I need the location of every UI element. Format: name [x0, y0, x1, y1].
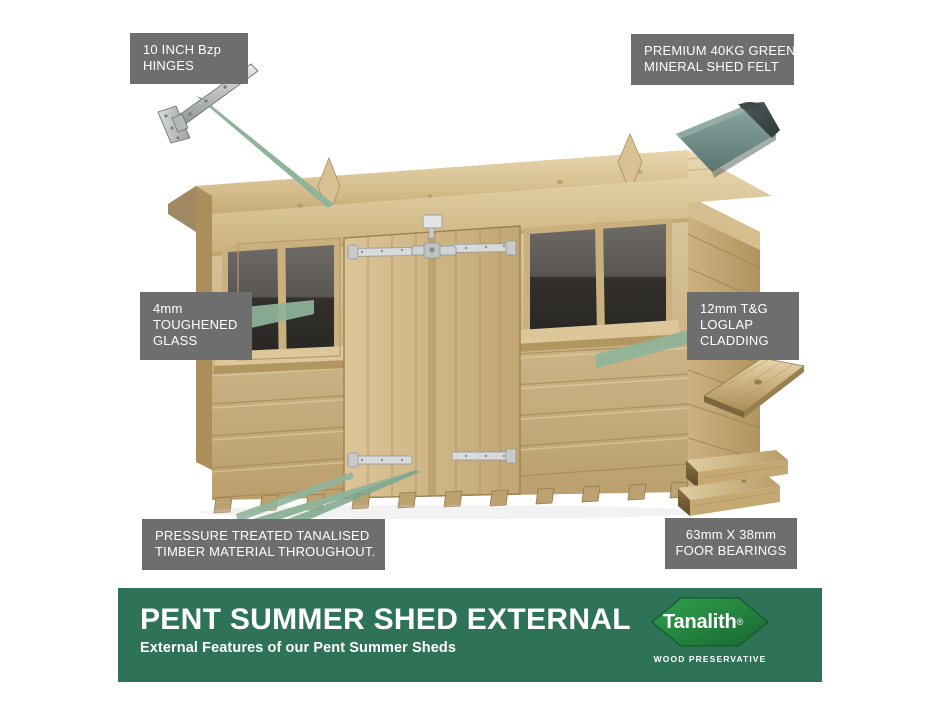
callout-shed-felt: PREMIUM 40KG GREEN MINERAL SHED FELT	[631, 34, 794, 85]
detail-photo-shed-felt	[668, 100, 788, 180]
callout-shed-felt-line-2: MINERAL SHED FELT	[644, 59, 782, 75]
callout-hinges: 10 INCH Bzp HINGES	[130, 33, 248, 84]
tanalith-wordmark-text: Tanalith	[663, 611, 737, 634]
detail-photo-loglap-board	[700, 352, 812, 424]
callout-treated-line-1: PRESSURE TREATED TANALISED	[155, 528, 373, 544]
callout-loglap-cladding: 12mm T&G LOGLAP CLADDING	[687, 292, 799, 360]
detail-photo-floor-bearings	[668, 448, 794, 526]
page-subtitle: External Features of our Pent Summer She…	[140, 640, 631, 656]
footer-banner: PENT SUMMER SHED EXTERNAL External Featu…	[118, 588, 822, 682]
callout-glass-line-3: GLASS	[153, 333, 240, 349]
callout-glass-line-2: TOUGHENED	[153, 317, 240, 333]
pointer-wedge-base	[236, 470, 356, 526]
callout-cladding-line-3: CLADDING	[700, 333, 787, 349]
callout-cladding-line-2: LOGLAP	[700, 317, 787, 333]
callout-cladding-line-1: 12mm T&G	[700, 301, 787, 317]
callout-pressure-treated: PRESSURE TREATED TANALISED TIMBER MATERI…	[142, 519, 385, 570]
callout-treated-line-2: TIMBER MATERIAL THROUGHOUT.	[155, 544, 373, 560]
callout-glass-line-1: 4mm	[153, 301, 240, 317]
banner-text-block: PENT SUMMER SHED EXTERNAL External Featu…	[140, 604, 631, 656]
page-title: PENT SUMMER SHED EXTERNAL	[140, 604, 631, 636]
callout-toughened-glass: 4mm TOUGHENED GLASS	[140, 292, 252, 360]
callout-shed-felt-line-1: PREMIUM 40KG GREEN	[644, 43, 782, 59]
registered-mark: ®	[737, 617, 743, 627]
tanalith-tagline: WOOD PRESERVATIVE	[644, 654, 776, 664]
infographic-canvas: 10 INCH Bzp HINGES PREMIUM 40KG GREEN MI…	[0, 0, 940, 705]
tanalith-logo: Tanalith® WOOD PRESERVATIVE	[644, 597, 776, 664]
callout-hinges-line-1: 10 INCH Bzp	[143, 42, 236, 58]
callout-bearings-line-1: 63mm X 38mm	[673, 527, 789, 543]
callout-floor-bearings: 63mm X 38mm FOOR BEARINGS	[665, 518, 797, 569]
callout-hinges-line-2: HINGES	[143, 58, 236, 74]
callout-bearings-line-2: FOOR BEARINGS	[673, 543, 789, 559]
tanalith-wordmark: Tanalith®	[644, 597, 762, 647]
